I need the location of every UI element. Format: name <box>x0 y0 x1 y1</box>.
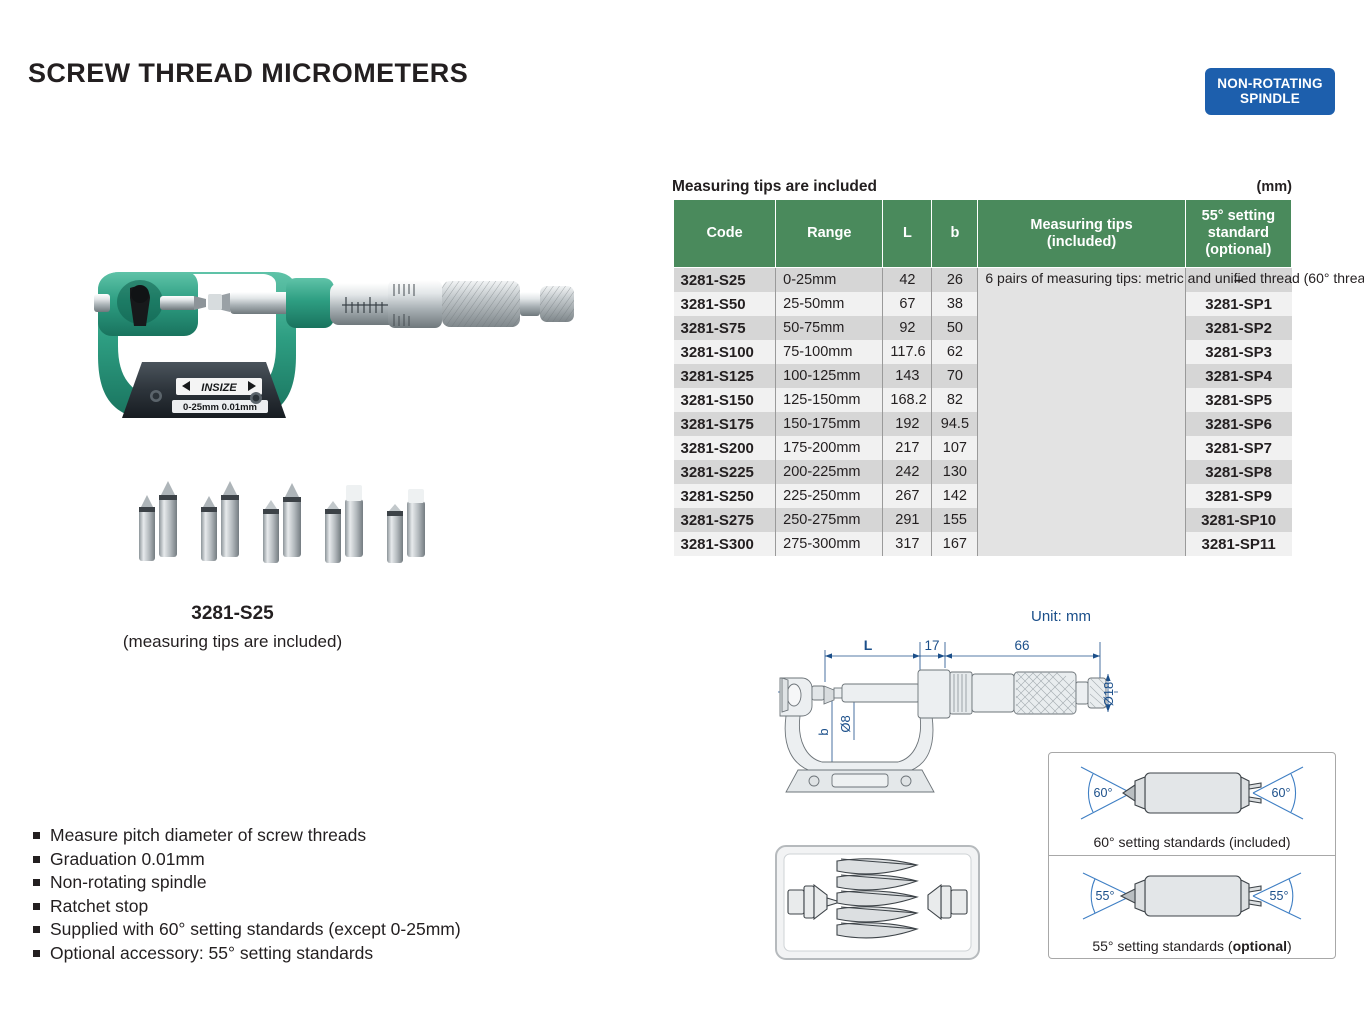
cell-l: 317 <box>883 532 932 556</box>
label-suffix: ) <box>1287 938 1292 954</box>
cell-code: 3281-S175 <box>674 412 776 436</box>
cell-setting-standard: 3281-SP8 <box>1185 460 1291 484</box>
cell-code: 3281-S50 <box>674 292 776 316</box>
angle-label-left: 60° <box>1094 786 1113 800</box>
setting-standard-60-label: 60° setting standards (included) <box>1049 834 1335 850</box>
cell-setting-standard: 3281-SP2 <box>1185 316 1291 340</box>
setting-standard-55: 55° 55° 55° setting standards (optional) <box>1049 856 1335 959</box>
cell-l: 42 <box>883 268 932 293</box>
bullet-square-icon <box>33 903 40 910</box>
cell-l: 67 <box>883 292 932 316</box>
cell-setting-standard: 3281-SP5 <box>1185 388 1291 412</box>
cell-l: 291 <box>883 508 932 532</box>
cell-range: 275-300mm <box>776 532 883 556</box>
bullet-square-icon <box>33 832 40 839</box>
cell-l: 217 <box>883 436 932 460</box>
cell-code: 3281-S25 <box>674 268 776 293</box>
cell-code: 3281-S75 <box>674 316 776 340</box>
cell-code: 3281-S275 <box>674 508 776 532</box>
list-item: Supplied with 60° setting standards (exc… <box>30 918 610 941</box>
status-badge: NON-ROTATING SPINDLE <box>1205 68 1335 115</box>
dim-label-66: 66 <box>1014 638 1029 653</box>
column-header-code: Code <box>674 200 776 268</box>
cell-b: 130 <box>932 460 978 484</box>
plate-label: 0-25mm 0.01mm <box>183 402 257 413</box>
column-header-measuring-tips: Measuring tips (included) <box>978 200 1185 268</box>
cell-b: 70 <box>932 364 978 388</box>
micrometer-illustration: INSIZE 0-25mm 0.01mm <box>90 250 590 435</box>
angle-label-right: 55° <box>1270 889 1289 903</box>
tips-header-line-2: (included) <box>982 234 1180 251</box>
cell-range: 250-275mm <box>776 508 883 532</box>
setting-standard-55-label: 55° setting standards (optional) <box>1049 938 1335 954</box>
cell-code: 3281-S300 <box>674 532 776 556</box>
feature-list: Measure pitch diameter of screw threads … <box>30 824 610 965</box>
angle-label-right: 60° <box>1272 786 1291 800</box>
dim-label-d8: Ø8 <box>838 715 853 732</box>
setting-standard-60: 60° 60° 60° setting standards (included) <box>1049 753 1335 856</box>
cell-l: 242 <box>883 460 932 484</box>
cell-setting-standard: 3281-SP6 <box>1185 412 1291 436</box>
cell-setting-standard: 3281-SP3 <box>1185 340 1291 364</box>
feature-text: Ratchet stop <box>50 895 148 918</box>
feature-text: Measure pitch diameter of screw threads <box>50 824 366 847</box>
cell-range: 125-150mm <box>776 388 883 412</box>
table-unit-label: (mm) <box>1150 179 1292 195</box>
cell-code: 3281-S225 <box>674 460 776 484</box>
cell-range: 150-175mm <box>776 412 883 436</box>
cell-code: 3281-S100 <box>674 340 776 364</box>
cell-b: 50 <box>932 316 978 340</box>
cell-setting-standard: 3281-SP4 <box>1185 364 1291 388</box>
cell-setting-standard: 3281-SP9 <box>1185 484 1291 508</box>
cell-code: 3281-S200 <box>674 436 776 460</box>
cell-l: 192 <box>883 412 932 436</box>
standard-60-illustration: 60° 60° <box>1063 757 1321 829</box>
list-item: Graduation 0.01mm <box>30 848 610 871</box>
feature-text: Supplied with 60° setting standards (exc… <box>50 918 461 941</box>
std-header-line-1: 55° setting <box>1190 208 1287 225</box>
cell-code: 3281-S250 <box>674 484 776 508</box>
cell-setting-standard: 3281-SP10 <box>1185 508 1291 532</box>
dim-label-b: b <box>816 728 831 735</box>
cell-range: 175-200mm <box>776 436 883 460</box>
bullet-square-icon <box>33 950 40 957</box>
feature-text: Non-rotating spindle <box>50 871 207 894</box>
cell-setting-standard: 3281-SP7 <box>1185 436 1291 460</box>
brand-name: INSIZE <box>201 382 237 394</box>
specification-table: Code Range L b Measuring tips (included)… <box>673 199 1292 556</box>
bullet-square-icon <box>33 926 40 933</box>
feature-text: Graduation 0.01mm <box>50 848 205 871</box>
column-header-range: Range <box>776 200 883 268</box>
angle-label-left: 55° <box>1096 889 1115 903</box>
cell-range: 100-125mm <box>776 364 883 388</box>
standard-55-illustration: 55° 55° <box>1063 860 1321 932</box>
cell-b: 62 <box>932 340 978 364</box>
cell-l: 168.2 <box>883 388 932 412</box>
cell-b: 167 <box>932 532 978 556</box>
cell-code: 3281-S150 <box>674 388 776 412</box>
cell-b: 38 <box>932 292 978 316</box>
feature-text: Optional accessory: 55° setting standard… <box>50 942 373 965</box>
dim-label-l: L <box>864 637 873 653</box>
cell-b: 26 <box>932 268 978 293</box>
cell-range: 200-225mm <box>776 460 883 484</box>
thread-measurement-diagram <box>775 845 980 960</box>
table-title: Measuring tips are included <box>672 178 877 196</box>
column-header-l: L <box>883 200 932 268</box>
column-header-b: b <box>932 200 978 268</box>
cell-measuring-tips: 6 pairs of measuring tips: metric and un… <box>978 268 1185 557</box>
dim-label-d18: Ø18 <box>1101 682 1116 707</box>
cell-range: 75-100mm <box>776 340 883 364</box>
bullet-square-icon <box>33 856 40 863</box>
cell-range: 0-25mm <box>776 268 883 293</box>
product-caption-note: (measuring tips are included) <box>60 632 405 652</box>
tips-header-line-1: Measuring tips <box>982 217 1180 234</box>
page-title: SCREW THREAD MICROMETERS <box>28 58 468 89</box>
cell-b: 107 <box>932 436 978 460</box>
cell-l: 267 <box>883 484 932 508</box>
cell-b: 155 <box>932 508 978 532</box>
list-item: Ratchet stop <box>30 895 610 918</box>
cell-b: 82 <box>932 388 978 412</box>
list-item: Measure pitch diameter of screw threads <box>30 824 610 847</box>
cell-range: 25-50mm <box>776 292 883 316</box>
cell-range: 225-250mm <box>776 484 883 508</box>
table-header-row: Code Range L b Measuring tips (included)… <box>674 200 1292 268</box>
badge-line-1: NON-ROTATING <box>1209 76 1331 91</box>
cell-setting-standard: 3281-SP11 <box>1185 532 1291 556</box>
std-header-line-2: standard <box>1190 225 1287 242</box>
list-item: Optional accessory: 55° setting standard… <box>30 942 610 965</box>
measuring-tips-photo <box>135 465 445 565</box>
setting-standards-panel: 60° 60° 60° setting standards (included) <box>1048 752 1336 959</box>
cell-b: 142 <box>932 484 978 508</box>
dim-label-17: 17 <box>924 638 939 653</box>
cell-b: 94.5 <box>932 412 978 436</box>
std-header-line-3: (optional) <box>1190 242 1287 259</box>
cell-code: 3281-S125 <box>674 364 776 388</box>
list-item: Non-rotating spindle <box>30 871 610 894</box>
bullet-square-icon <box>33 879 40 886</box>
cell-l: 143 <box>883 364 932 388</box>
label-prefix: 55° setting standards ( <box>1092 938 1232 954</box>
cell-l: 92 <box>883 316 932 340</box>
badge-line-2: SPINDLE <box>1209 91 1331 106</box>
table-row: 3281-S25 0-25mm 42 26 6 pairs of measuri… <box>674 268 1292 293</box>
cell-range: 50-75mm <box>776 316 883 340</box>
label-bold: optional <box>1233 938 1287 954</box>
cell-l: 117.6 <box>883 340 932 364</box>
column-header-setting-standard: 55° setting standard (optional) <box>1185 200 1291 268</box>
cell-setting-standard: 3281-SP1 <box>1185 292 1291 316</box>
product-code-caption: 3281-S25 <box>95 603 370 625</box>
